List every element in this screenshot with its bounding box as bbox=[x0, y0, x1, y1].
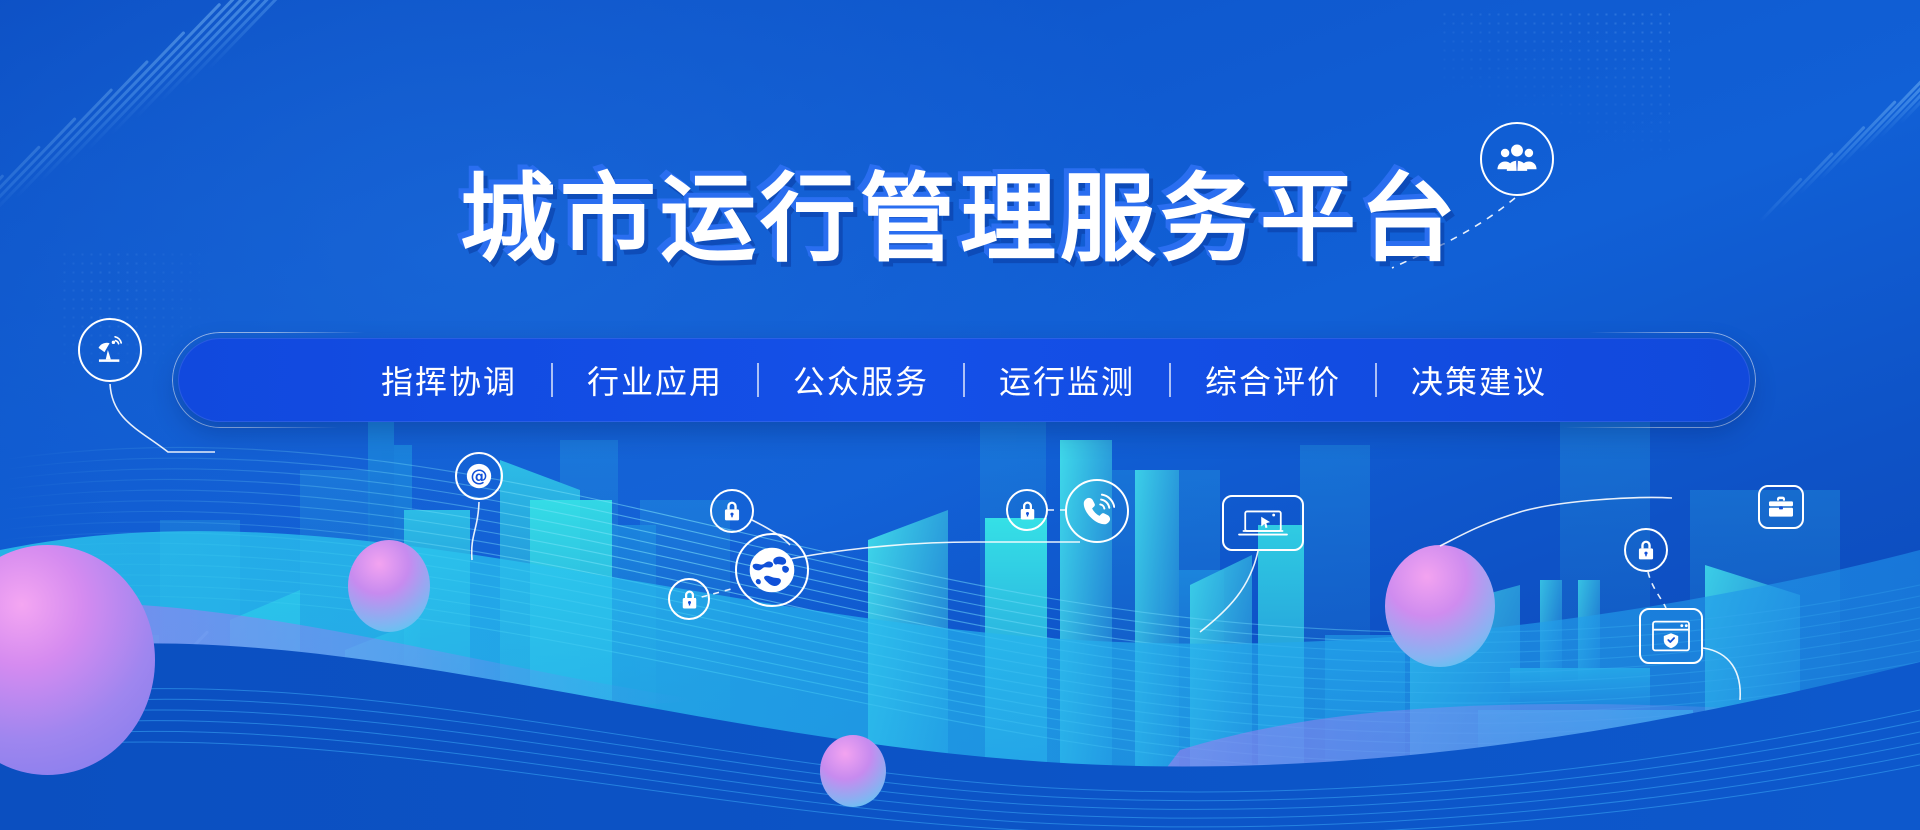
city-platform-banner: @ bbox=[0, 0, 1920, 830]
lock-icon bbox=[1624, 528, 1668, 572]
nav-item-public-service[interactable]: 公众服务 bbox=[759, 357, 963, 403]
laptop-cursor-icon bbox=[1222, 495, 1304, 551]
nav-item-operation-monitoring[interactable]: 运行监测 bbox=[965, 357, 1169, 403]
at-sign-icon: @ bbox=[455, 452, 503, 500]
lock-icon bbox=[668, 578, 710, 620]
browser-shield-icon bbox=[1639, 608, 1703, 664]
satellite-dish-icon bbox=[78, 318, 142, 382]
primary-nav: 指挥协调 行业应用 公众服务 运行监测 综合评价 决策建议 bbox=[178, 338, 1750, 422]
wave-decoration bbox=[0, 400, 1920, 830]
svg-text:@: @ bbox=[470, 467, 487, 487]
page-title: 城市运行管理服务平台 bbox=[460, 168, 1460, 272]
globe-icon bbox=[735, 533, 809, 607]
nav-item-decision-suggestion[interactable]: 决策建议 bbox=[1377, 357, 1581, 403]
page-title-wrapper: 城市运行管理服务平台 bbox=[0, 168, 1920, 272]
briefcase-icon bbox=[1758, 485, 1804, 529]
lock-icon bbox=[710, 489, 754, 533]
nav-item-comprehensive-evaluation[interactable]: 综合评价 bbox=[1171, 357, 1375, 403]
gradient-sphere-mid bbox=[348, 540, 430, 632]
nav-item-industry-application[interactable]: 行业应用 bbox=[553, 357, 757, 403]
gradient-sphere-small bbox=[820, 735, 886, 807]
halftone-dots-top-right bbox=[1440, 10, 1670, 160]
phone-ringing-icon bbox=[1065, 479, 1129, 543]
nav-item-command-coordination[interactable]: 指挥协调 bbox=[347, 357, 551, 403]
lock-icon bbox=[1006, 489, 1048, 531]
gradient-sphere-right bbox=[1385, 545, 1495, 667]
